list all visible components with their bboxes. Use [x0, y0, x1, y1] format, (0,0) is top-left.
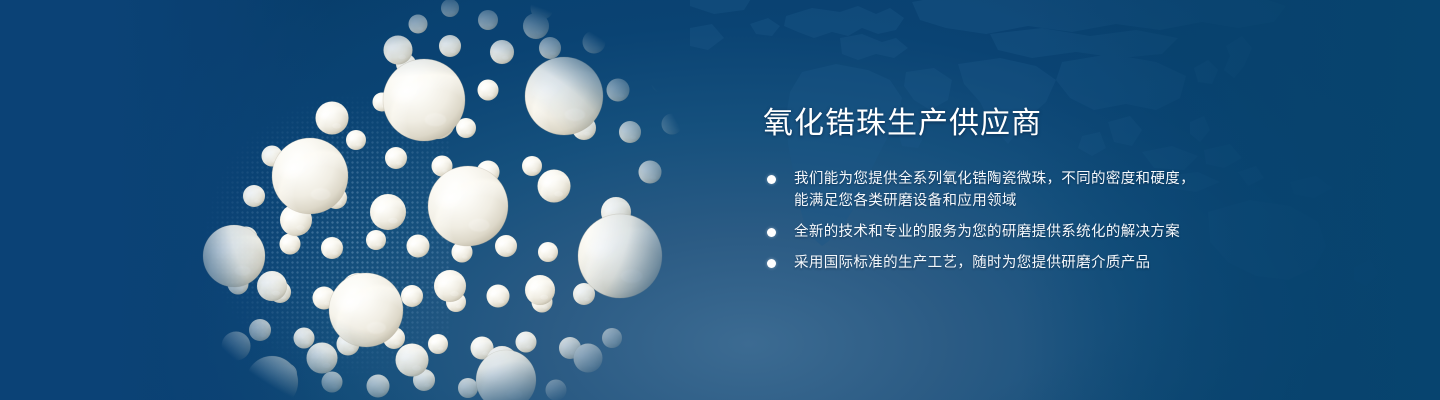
bullet-dot-icon — [767, 175, 776, 184]
bullet-dot-icon — [767, 259, 776, 268]
feature-item-3-line-1: 采用国际标准的生产工艺，随时为您提供研磨介质产品 — [794, 252, 1323, 274]
feature-item-1-line-2: 能满足您各类研磨设备和应用领域 — [794, 190, 1323, 212]
banner-copy: 氧化锆珠生产供应商 我们能为您提供全系列氧化锆陶瓷微珠，不同的密度和硬度， 能满… — [763, 106, 1323, 274]
bullet-dot-icon — [767, 228, 776, 237]
feature-list: 我们能为您提供全系列氧化锆陶瓷微珠，不同的密度和硬度， 能满足您各类研磨设备和应… — [767, 168, 1323, 274]
feature-item-1-line-1: 我们能为您提供全系列氧化锆陶瓷微珠，不同的密度和硬度， — [794, 168, 1323, 190]
feature-item-2-line-1: 全新的技术和专业的服务为您的研磨提供系统化的解决方案 — [794, 221, 1323, 243]
feature-item-3: 采用国际标准的生产工艺，随时为您提供研磨介质产品 — [767, 252, 1323, 274]
banner-headline: 氧化锆珠生产供应商 — [763, 106, 1323, 142]
feature-item-2: 全新的技术和专业的服务为您的研磨提供系统化的解决方案 — [767, 221, 1323, 243]
hero-banner: 氧化锆珠生产供应商 我们能为您提供全系列氧化锆陶瓷微珠，不同的密度和硬度， 能满… — [0, 0, 1440, 400]
feature-item-1: 我们能为您提供全系列氧化锆陶瓷微珠，不同的密度和硬度， 能满足您各类研磨设备和应… — [767, 168, 1323, 212]
zirconia-beads-photo — [150, 0, 710, 400]
